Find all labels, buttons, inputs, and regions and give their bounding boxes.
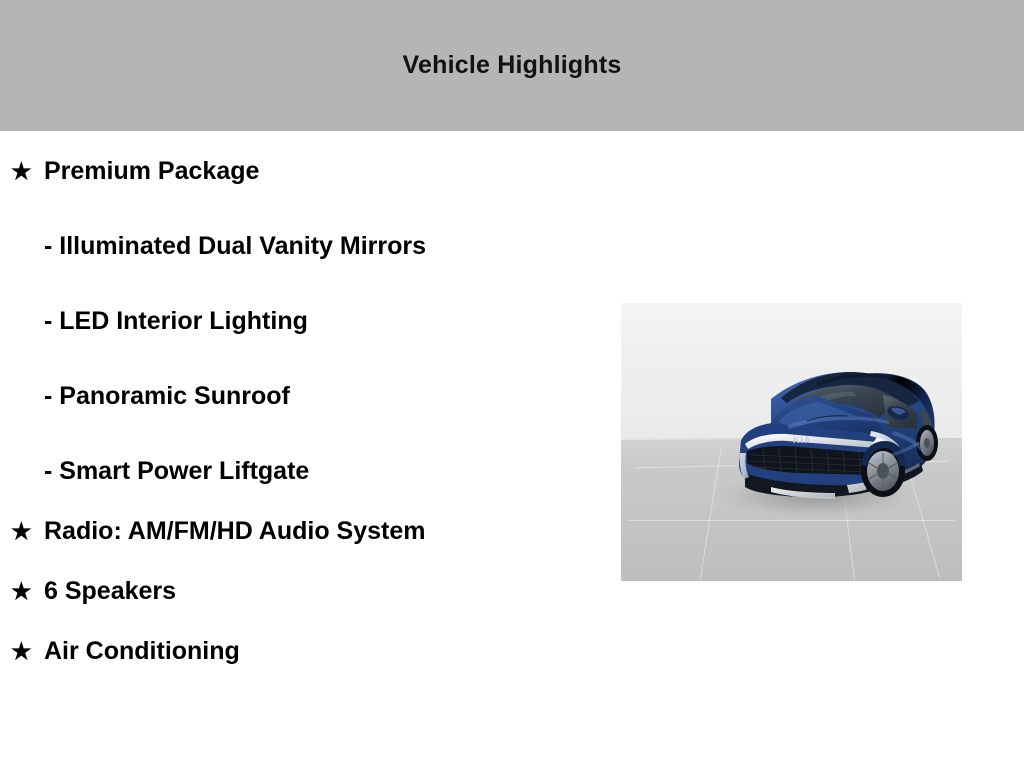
highlight-item-label: Radio: AM/FM/HD Audio System (44, 513, 464, 549)
highlight-item-label: 6 Speakers (44, 573, 464, 609)
star-bullet-icon: ★ (11, 153, 33, 189)
highlight-item: ★Premium Package (0, 153, 600, 189)
vehicle-photo[interactable]: KIA (621, 303, 962, 581)
highlight-item: - Smart Power Liftgate (0, 453, 600, 489)
highlight-item-label: - Smart Power Liftgate (44, 453, 464, 489)
highlight-item-label: Premium Package (44, 153, 464, 189)
content-area: ★Premium Package- Illuminated Dual Vanit… (0, 131, 1024, 768)
highlight-item-label: Air Conditioning (44, 633, 464, 669)
highlight-item: ★6 Speakers (0, 573, 600, 609)
highlight-item: - Illuminated Dual Vanity Mirrors (0, 228, 600, 264)
kia-badge: KIA (793, 435, 812, 445)
highlight-item: - LED Interior Lighting (0, 303, 600, 339)
highlight-item-label: - Illuminated Dual Vanity Mirrors (44, 228, 464, 264)
highlight-item: ★Air Conditioning (0, 633, 600, 669)
highlight-item: - Panoramic Sunroof (0, 378, 600, 414)
header-banner: Vehicle Highlights (0, 0, 1024, 131)
highlight-item-label: - LED Interior Lighting (44, 303, 464, 339)
star-bullet-icon: ★ (11, 633, 33, 669)
star-bullet-icon: ★ (11, 573, 33, 609)
star-bullet-icon: ★ (11, 513, 33, 549)
page-title: Vehicle Highlights (0, 51, 1024, 80)
vehicle-illustration: KIA (621, 303, 962, 581)
highlight-item: ★Radio: AM/FM/HD Audio System (0, 513, 600, 549)
vehicle-highlights-list: ★Premium Package- Illuminated Dual Vanit… (0, 131, 600, 669)
highlight-item-label: - Panoramic Sunroof (44, 378, 464, 414)
